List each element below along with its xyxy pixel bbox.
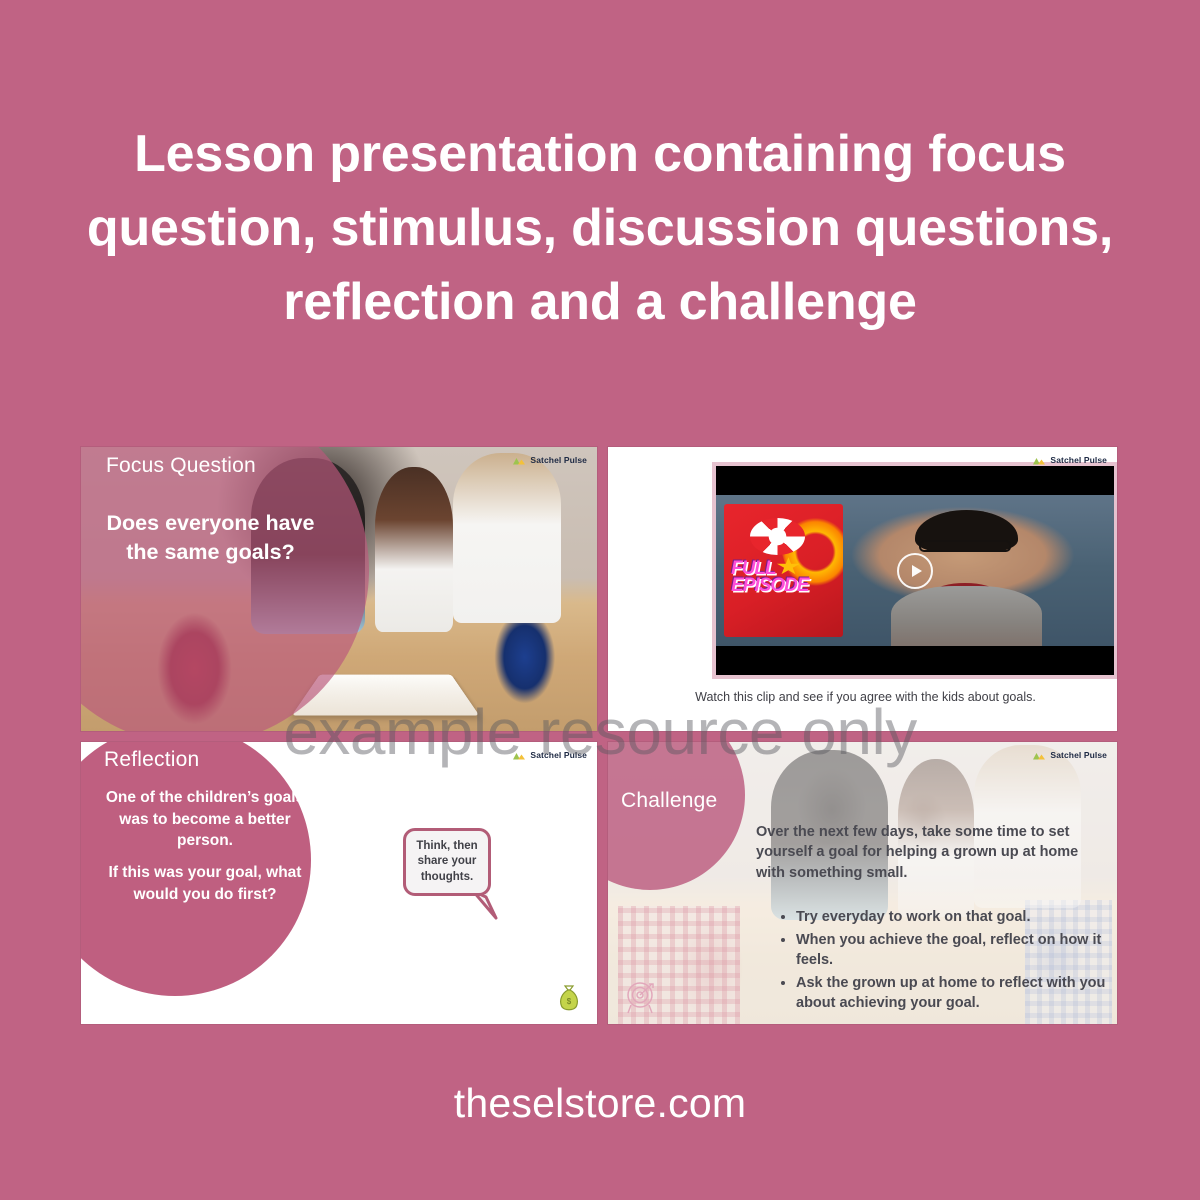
challenge-bullet: Try everyday to work on that goal. [796,907,1107,927]
episode-badge: FULL EPISODE [724,504,843,636]
video-thumbnail: FULL EPISODE [716,466,1114,675]
badge-line-2: EPISODE [731,575,808,596]
focus-question-text: Does everyone have the same goals? [103,509,318,566]
mountain-logo-icon [1032,456,1046,465]
play-triangle [912,565,922,577]
video-player[interactable]: FULL EPISODE [712,462,1117,679]
satchel-pulse-logo: Satchel Pulse [512,750,587,760]
challenge-intro: Over the next few days, take some time t… [756,822,1103,883]
satchel-pulse-logo: Satchel Pulse [1032,455,1107,465]
video-subject-glasses [919,540,1011,552]
badge-label: FULL EPISODE [731,560,808,595]
video-subject-body [891,586,1042,652]
page-title: Lesson presentation containing focus que… [60,118,1140,339]
mountain-logo-icon [1032,751,1046,760]
speech-bubble: Think, then share your thoughts. [403,828,491,896]
reflection-paragraph-1: One of the children’s goals was to becom… [101,787,309,852]
svg-text:$: $ [567,997,572,1006]
challenge-bullet-list: Try everyday to work on that goal. When … [778,907,1107,1016]
logo-text: Satchel Pulse [530,750,587,760]
challenge-bullet: Ask the grown up at home to reflect with… [796,973,1107,1013]
slide-eyebrow-reflection: Reflection [104,748,199,772]
satchel-pulse-logo: Satchel Pulse [512,455,587,465]
slide-eyebrow-challenge: Challenge [621,789,717,813]
target-icon [622,976,662,1016]
mountain-logo-icon [512,751,526,760]
video-caption: Watch this clip and see if you agree wit… [628,690,1103,704]
logo-text: Satchel Pulse [1050,455,1107,465]
logo-text: Satchel Pulse [530,455,587,465]
video-letterbox-top [716,466,1114,495]
video-letterbox-bottom [716,646,1114,675]
footer-url: theselstore.com [0,1080,1200,1127]
challenge-intro-text: Over the next few days, take some time t… [756,822,1103,883]
challenge-bullet: When you achieve the goal, reflect on ho… [796,930,1107,970]
reflection-paragraph-2: If this was your goal, what would you do… [101,862,309,905]
satchel-pulse-logo: Satchel Pulse [1032,750,1107,760]
slide-reflection[interactable]: Satchel Pulse Reflection One of the chil… [81,742,597,1024]
mountain-logo-icon [512,456,526,465]
speech-bubble-text: Think, then share your thoughts. [406,839,488,885]
reflection-body: One of the children’s goals was to becom… [101,787,309,905]
broadcaster-logo-icon [750,518,805,555]
logo-text: Satchel Pulse [1050,750,1107,760]
slide-stimulus[interactable]: Satchel Pulse FULL EPISODE [608,447,1117,731]
photo-figure-student-one [375,467,452,632]
photo-figure-student-two [453,453,561,623]
slide-deck: Satchel Pulse Focus Question Does everyo… [81,447,1117,1024]
slide-eyebrow-focus-question: Focus Question [106,454,256,478]
slide-challenge[interactable]: Satchel Pulse Challenge Over the next fe… [608,742,1117,1024]
money-bag-icon: $ [557,984,581,1014]
play-icon[interactable] [897,553,933,589]
slide-focus-question[interactable]: Satchel Pulse Focus Question Does everyo… [81,447,597,731]
